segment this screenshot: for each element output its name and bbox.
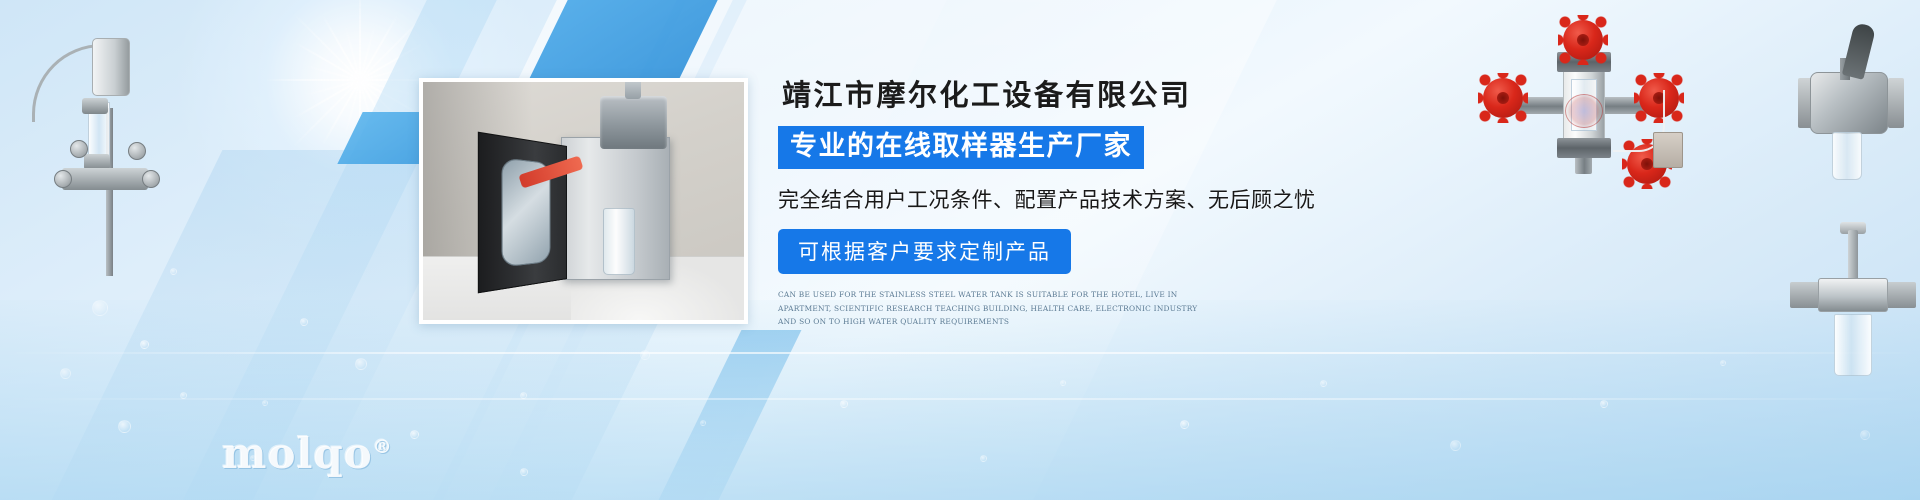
- photo-sample-bottle: [603, 208, 635, 275]
- valve-end-box: [1653, 132, 1683, 168]
- brand-stamp-icon: [1565, 94, 1603, 128]
- photo-valve-head: [600, 96, 667, 148]
- equipment-inline-sampler: [1790, 230, 1920, 400]
- registered-mark-icon: ®: [373, 436, 393, 458]
- photo-cabinet-door: [478, 132, 568, 294]
- rig-valve: [82, 98, 108, 114]
- valve-seal: [1557, 138, 1611, 158]
- sampler-arm: [1886, 282, 1916, 308]
- red-handwheel-icon: [1483, 78, 1523, 118]
- rig-knob: [128, 142, 146, 160]
- logo-watermark-text: molqo: [222, 429, 373, 478]
- slogan-primary-badge: 专业的在线取样器生产厂家: [778, 126, 1144, 169]
- blue-accent-block: [659, 330, 802, 500]
- english-description: CAN BE USED FOR THE STAINLESS STEEL WATE…: [778, 288, 1198, 329]
- slogan-custom-badge: 可根据客户要求定制产品: [778, 229, 1071, 274]
- logo-watermark: molqo®: [222, 429, 393, 478]
- equipment-block-valve: [1796, 28, 1914, 188]
- sampler-body: [1818, 278, 1888, 312]
- equipment-cross-valve: [1487, 34, 1697, 179]
- slogan-secondary: 完全结合用户工况条件、配置产品技术方案、无后顾之忧: [778, 184, 1418, 214]
- valve-body: [1810, 72, 1888, 134]
- rig-knob: [70, 140, 88, 158]
- red-handwheel-icon: [1563, 20, 1603, 60]
- promo-banner: 靖江市摩尔化工设备有限公司 专业的在线取样器生产厂家 完全结合用户工况条件、配置…: [0, 0, 1920, 500]
- sample-bottle: [1832, 132, 1862, 180]
- wave-line: [0, 398, 1920, 400]
- rig-cross-fitting: [62, 168, 148, 190]
- rig-knob: [54, 170, 72, 188]
- rig-knob: [142, 170, 160, 188]
- rig-control-box: [92, 38, 130, 96]
- page-title: 靖江市摩尔化工设备有限公司: [782, 78, 1418, 113]
- equipment-left-rig: [10, 22, 170, 282]
- banner-text-block: 靖江市摩尔化工设备有限公司 专业的在线取样器生产厂家 完全结合用户工况条件、配置…: [778, 78, 1418, 329]
- valve-flange: [1888, 78, 1904, 128]
- sampler-arm: [1790, 282, 1820, 308]
- sampler-glass-tube: [1834, 314, 1872, 376]
- wave-line: [0, 352, 1920, 354]
- product-photo-image: [423, 82, 744, 320]
- sampler-stem: [1848, 230, 1858, 282]
- product-photo: [419, 78, 748, 324]
